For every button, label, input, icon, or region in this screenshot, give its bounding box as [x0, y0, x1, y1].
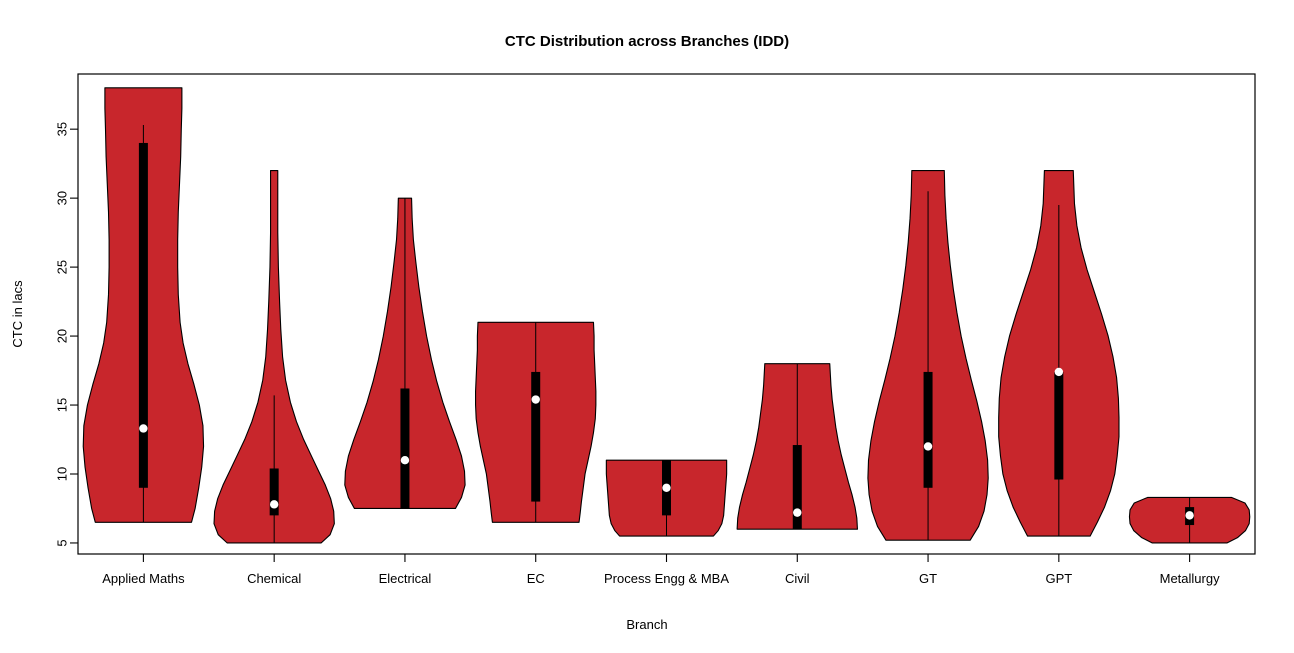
violin-metallurgy[interactable]	[1129, 497, 1249, 543]
median-marker	[139, 424, 147, 432]
y-tick-label: 35	[55, 122, 70, 136]
plot-canvas: CTC Distribution across Branches (IDD) B…	[0, 0, 1294, 653]
x-axis-title: Branch	[626, 617, 667, 632]
x-tick-label: GPT	[1045, 571, 1072, 586]
x-tick-label: Electrical	[379, 571, 432, 586]
chart-title: CTC Distribution across Branches (IDD)	[505, 33, 789, 50]
violin-applied-maths[interactable]	[83, 88, 203, 522]
y-tick-label: 10	[55, 467, 70, 481]
median-marker	[924, 442, 932, 450]
violin-electrical[interactable]	[345, 198, 465, 508]
y-tick-label: 30	[55, 191, 70, 205]
x-tick-label: Civil	[785, 571, 810, 586]
x-axis: Applied MathsChemicalElectricalECProcess…	[102, 554, 1220, 586]
x-tick-label: GT	[919, 571, 937, 586]
y-tick-label: 25	[55, 260, 70, 274]
y-axis: 5101520253035	[55, 122, 79, 547]
iqr-box	[531, 372, 540, 502]
x-tick-label: Process Engg & MBA	[604, 571, 729, 586]
median-marker	[1185, 511, 1193, 519]
violin-process-engg-mba[interactable]	[606, 460, 726, 536]
median-marker	[793, 508, 801, 516]
violin-gt[interactable]	[868, 171, 988, 541]
median-marker	[401, 456, 409, 464]
violin-gpt[interactable]	[999, 171, 1119, 537]
x-tick-label: Chemical	[247, 571, 301, 586]
x-tick-label: EC	[527, 571, 545, 586]
iqr-box	[139, 143, 148, 488]
iqr-box	[400, 388, 409, 508]
median-marker	[270, 500, 278, 508]
median-marker	[532, 395, 540, 403]
median-marker	[1055, 368, 1063, 376]
median-marker	[662, 484, 670, 492]
y-tick-label: 15	[55, 398, 70, 412]
y-tick-label: 20	[55, 329, 70, 343]
y-axis-title: CTC in lacs	[10, 280, 25, 348]
violin-chemical[interactable]	[214, 171, 334, 543]
x-tick-label: Metallurgy	[1160, 571, 1220, 586]
y-tick-label: 5	[55, 539, 70, 546]
iqr-box	[1054, 372, 1063, 480]
violin-series-group	[83, 88, 1250, 543]
iqr-box	[924, 372, 933, 488]
violin-plot-figure: CTC Distribution across Branches (IDD) B…	[0, 0, 1294, 653]
x-tick-label: Applied Maths	[102, 571, 185, 586]
violin-civil[interactable]	[737, 364, 857, 530]
violin-ec[interactable]	[476, 322, 596, 522]
